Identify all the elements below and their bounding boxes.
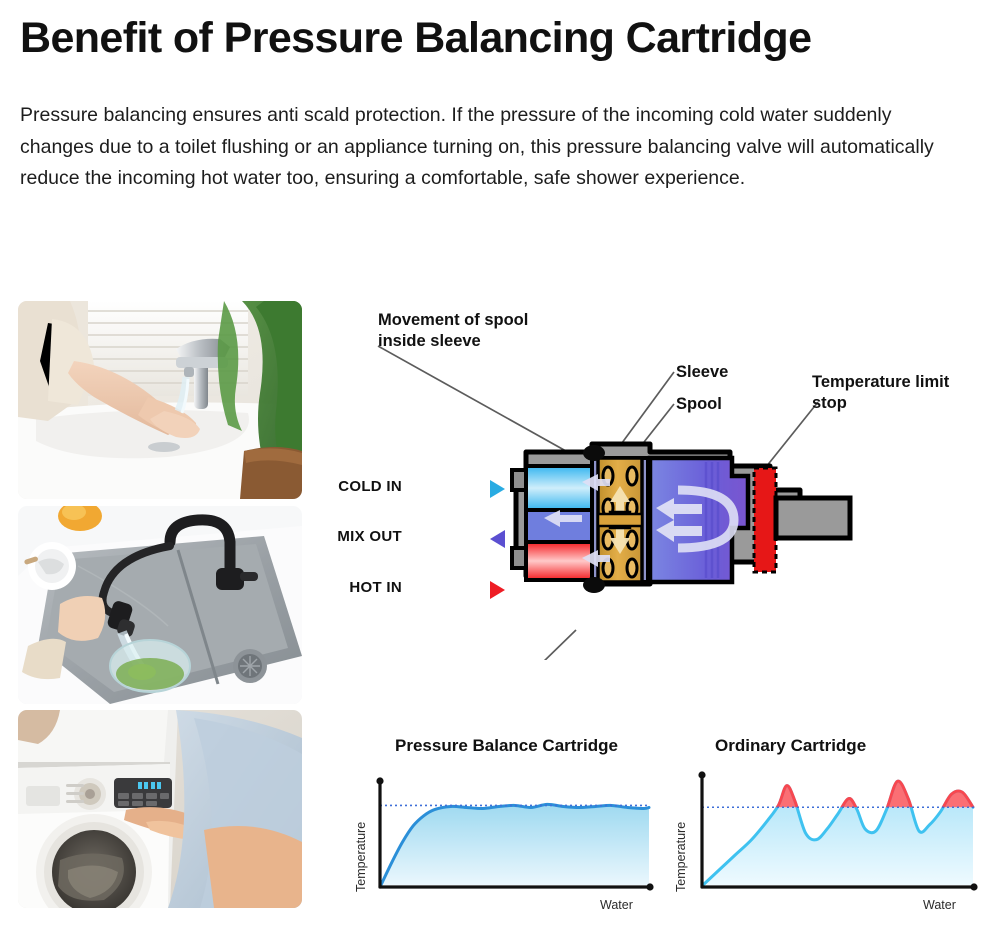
- label-temperature-limit-stop: Temperature limit stop: [812, 372, 962, 414]
- chart-x-axis-label-left: Water: [600, 898, 633, 912]
- intro-paragraph: Pressure balancing ensures anti scald pr…: [20, 100, 965, 195]
- chart-y-axis-label-left: Temperature: [354, 822, 368, 892]
- ordinary-cartridge-chart: Ordinary Cartridge: [660, 735, 985, 920]
- label-movement-of-spool: Movement of spool inside sleeve: [378, 310, 558, 352]
- page-title: Benefit of Pressure Balancing Cartridge: [20, 14, 980, 62]
- chart-x-axis-label-right: Water: [923, 898, 956, 912]
- flow-label-mix-out: MIX OUT: [282, 528, 402, 545]
- mix-out-arrow-icon: [490, 530, 505, 548]
- washing-machine-photo: [18, 710, 302, 908]
- hot-in-arrow-icon: [490, 581, 505, 599]
- pressure-balance-cartridge-chart: Pressure Balance Cartridge Temperature W…: [340, 735, 660, 920]
- flow-label-hot-in: HOT IN: [282, 579, 402, 596]
- handwashing-bathroom-sink-photo: [18, 301, 302, 499]
- kitchen-pulldown-faucet-photo: [18, 506, 302, 704]
- label-spool: Spool: [676, 394, 722, 415]
- infographic-page: Benefit of Pressure Balancing Cartridge …: [0, 0, 990, 926]
- label-sleeve: Sleeve: [676, 362, 728, 383]
- cold-in-arrow-icon: [490, 480, 505, 498]
- flow-label-cold-in: COLD IN: [282, 478, 402, 495]
- chart-y-axis-label-right: Temperature: [674, 822, 688, 892]
